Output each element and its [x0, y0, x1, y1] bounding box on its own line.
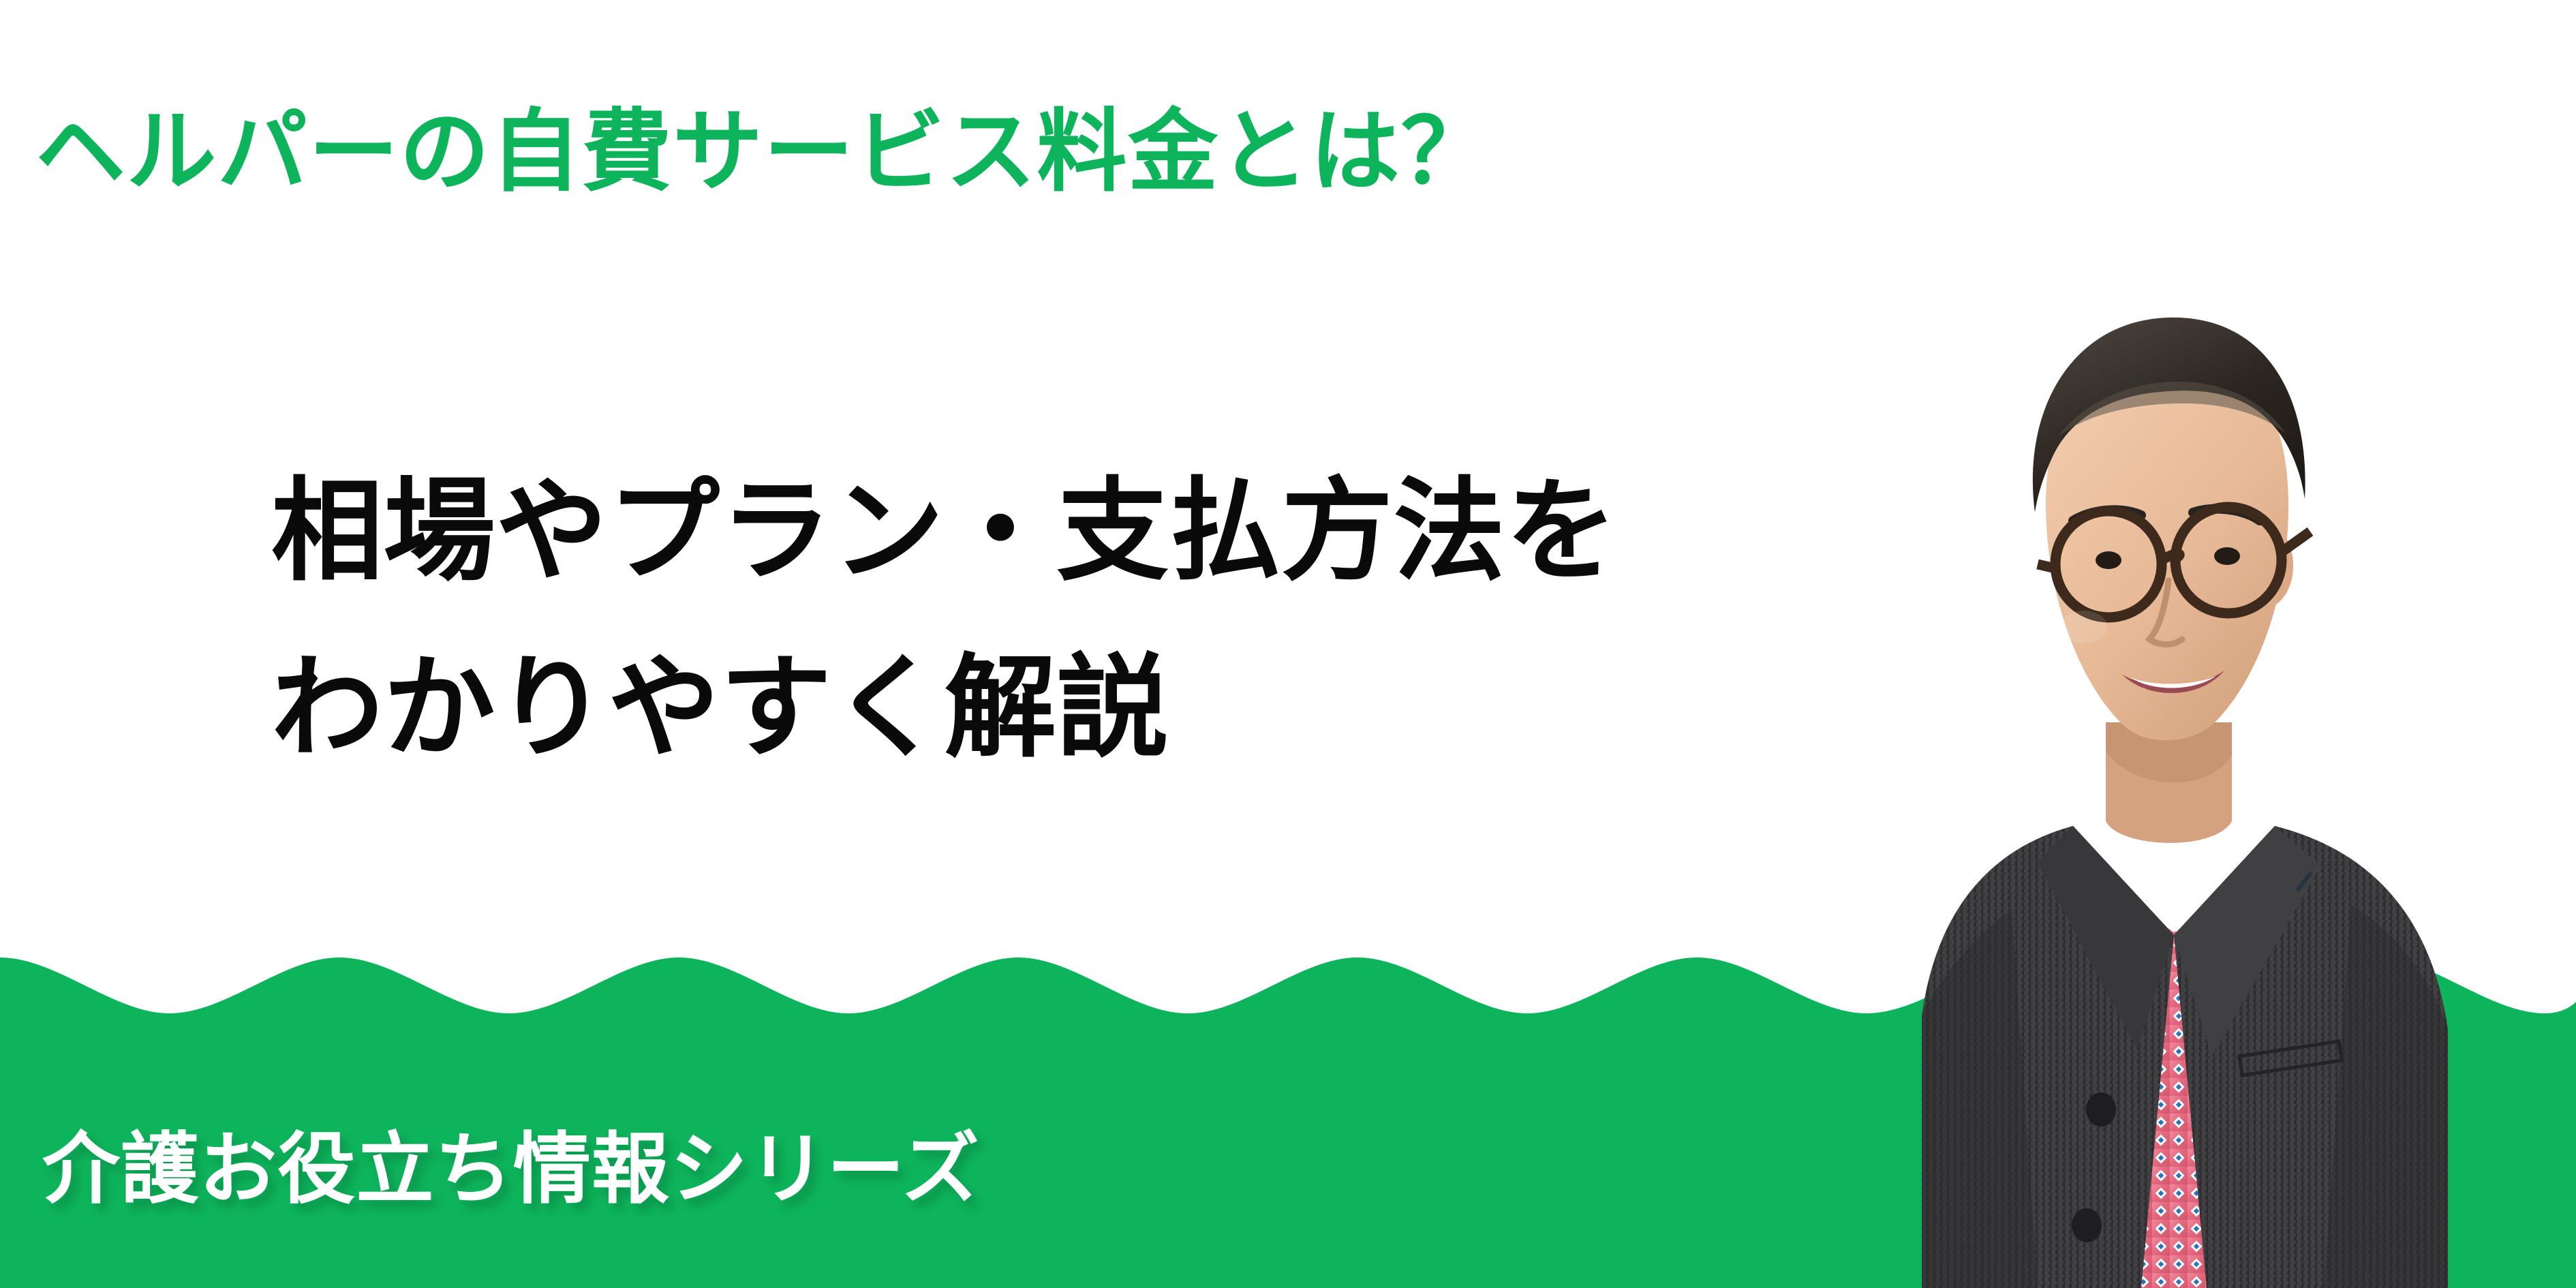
glasses-icon	[2038, 507, 2310, 617]
breast-pocket	[2239, 1041, 2342, 1075]
glasses-lens-left	[2055, 511, 2162, 617]
suit-jacket	[1922, 826, 2448, 1288]
mouth	[2122, 671, 2224, 693]
sleeve-left-shade	[1922, 910, 2038, 1288]
portrait-illustration	[1833, 245, 2501, 1288]
jacket-button-upper	[2086, 1092, 2116, 1126]
nose	[2149, 581, 2182, 645]
ear-right	[2236, 523, 2293, 608]
face	[2046, 346, 2288, 740]
glasses-bridge	[2162, 554, 2179, 560]
lapel-right	[2174, 826, 2320, 1056]
shirt	[1991, 826, 2363, 1288]
shirt-collar-left	[2058, 825, 2174, 954]
eyebrow-right	[2193, 509, 2260, 521]
jacket-button-lower	[2072, 1208, 2102, 1242]
lapel-left	[2038, 826, 2174, 1049]
main-copy-line-2: わかりやすく解説	[271, 619, 1618, 796]
main-copy-block: 相場やプラン・支払方法を わかりやすく解説	[271, 443, 1618, 796]
hair	[2033, 318, 2305, 512]
sleeve-right-shade	[2324, 905, 2448, 1288]
neck	[2106, 722, 2232, 843]
glasses-lens-right	[2175, 507, 2282, 613]
eye-left	[2096, 551, 2121, 569]
eyebrow-left	[2073, 510, 2141, 521]
main-copy-line-1: 相場やプラン・支払方法を	[271, 443, 1618, 619]
wave-shape	[0, 906, 2576, 1288]
hair-texture	[2058, 382, 2286, 436]
teeth	[2130, 676, 2216, 688]
headline-title: ヘルパーの自費サービス料金とは？	[35, 101, 1492, 204]
shirt-collar-right	[2174, 825, 2295, 955]
neck-shadow	[2106, 722, 2232, 782]
lapel-buttonhole	[2298, 874, 2310, 889]
series-label: 介護お役立ち情報シリーズ	[42, 1126, 980, 1212]
eye-right	[2214, 547, 2240, 565]
banner-root: ヘルパーの自費サービス料金とは？ 相場やプラン・支払方法を わかりやすく解説 介…	[0, 0, 2576, 1288]
green-wave-band	[0, 906, 2576, 1288]
glasses-temple-left	[2038, 564, 2055, 568]
necktie-blade	[2128, 968, 2223, 1288]
portrait-photo	[1833, 245, 2501, 1288]
glasses-temple-right	[2282, 532, 2310, 552]
cheek-highlight	[2061, 611, 2107, 643]
necktie-knot	[2138, 917, 2212, 985]
